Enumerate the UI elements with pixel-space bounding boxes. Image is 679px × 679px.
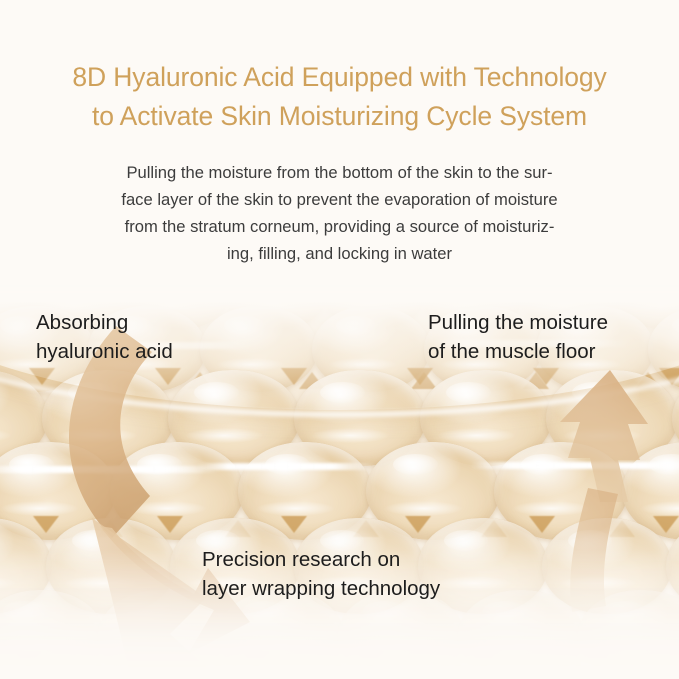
callout-precision-research: Precision research on layer wrapping tec… <box>202 545 440 603</box>
page-subtitle-line-2: face layer of the skin to prevent the ev… <box>62 186 618 213</box>
product-infographic-page: 8D Hyaluronic Acid Equipped with Technol… <box>0 0 679 679</box>
callout-precision-line-1: Precision research on <box>202 545 440 574</box>
page-subtitle-line-1: Pulling the moisture from the bottom of … <box>62 159 618 186</box>
page-title-line-2: to Activate Skin Moisturizing Cycle Syst… <box>20 97 660 136</box>
callout-absorbing-line-1: Absorbing <box>36 308 173 337</box>
header-block: 8D Hyaluronic Acid Equipped with Technol… <box>0 0 679 267</box>
callout-absorbing-line-2: hyaluronic acid <box>36 337 173 366</box>
page-title: 8D Hyaluronic Acid Equipped with Technol… <box>20 58 660 136</box>
page-title-line-1: 8D Hyaluronic Acid Equipped with Technol… <box>20 58 660 97</box>
page-subtitle-line-3: from the stratum corneum, providing a so… <box>62 213 618 240</box>
callout-pulling-line-1: Pulling the moisture <box>428 308 608 337</box>
callout-absorbing-hyaluronic-acid: Absorbing hyaluronic acid <box>36 308 173 366</box>
page-subtitle: Pulling the moisture from the bottom of … <box>62 159 618 267</box>
page-subtitle-line-4: ing, filling, and locking in water <box>62 240 618 267</box>
callout-precision-line-2: layer wrapping technology <box>202 574 440 603</box>
callout-pulling-line-2: of the muscle floor <box>428 337 608 366</box>
callout-pulling-the-moisture: Pulling the moisture of the muscle floor <box>428 308 608 366</box>
